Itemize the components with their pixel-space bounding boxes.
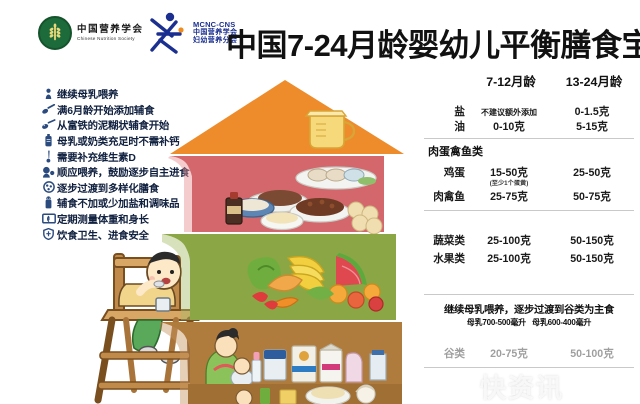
cns-logo-english: Chinese Nutrition Society bbox=[77, 37, 144, 42]
row-value-13-24: 0-1.5克 bbox=[550, 104, 634, 119]
divider bbox=[424, 367, 634, 368]
table-group-vegetables-fruits: 蔬菜类 25-100克 50-150克 水果类 25-100克 50-150克 bbox=[418, 233, 640, 266]
pyramid-tier-vegetable-fruit bbox=[162, 234, 396, 320]
breastfeeding-note: 继续母乳喂养，逐步过渡到谷类为主食 bbox=[418, 301, 640, 316]
row-value-7-12: 不建议额外添加 bbox=[468, 107, 550, 118]
tip-label: 满6月龄开始添加辅食 bbox=[57, 102, 154, 117]
table-column-headers: 7-12月龄 13-24月龄 bbox=[418, 72, 640, 90]
cns-logo-chinese: 中国营养学会 bbox=[77, 25, 144, 35]
table-group-meat-egg-poultry-fish: 肉蛋禽鱼类 鸡蛋 15-50克 25-50克 (至少1个蛋黄) 肉禽鱼 25-7… bbox=[418, 143, 640, 204]
row-value-13-24: 50-75克 bbox=[550, 189, 634, 204]
table-group-condiments: 盐 不建议额外添加 0-1.5克 油 0-10克 5-15克 bbox=[418, 104, 640, 134]
mcnc-figure-icon bbox=[146, 10, 190, 56]
responsive-feeding-icon bbox=[40, 165, 57, 179]
chinese-nutrition-society-logo: 中国营养学会 Chinese Nutrition Society bbox=[38, 16, 144, 50]
row-label: 鸡蛋 bbox=[418, 165, 468, 180]
divider bbox=[424, 210, 634, 211]
spoon-icon bbox=[40, 102, 57, 116]
wheat-emblem-icon bbox=[44, 22, 66, 44]
table-row: 蔬菜类 25-100克 50-150克 bbox=[418, 233, 640, 248]
egg-yolk-note: (至少1个蛋黄) bbox=[468, 178, 550, 187]
row-value-13-24: 50-100克 bbox=[550, 346, 634, 361]
spoon-puree-icon bbox=[40, 118, 57, 132]
row-label: 盐 bbox=[418, 104, 468, 119]
salt-shaker-icon bbox=[40, 196, 57, 210]
mcnc-cns-logo: MCNC-CNS 中国营养学会 妇幼营养分会 bbox=[146, 10, 237, 56]
header: 中国营养学会 Chinese Nutrition Society MCNC-CN… bbox=[0, 0, 640, 66]
group-title: 肉蛋禽鱼类 bbox=[418, 143, 640, 159]
pyramid-tier-oil bbox=[170, 80, 404, 154]
tip-label: 从富铁的泥糊状辅食开始 bbox=[57, 117, 169, 132]
row-label: 水果类 bbox=[418, 251, 468, 266]
milk-bottle-icon bbox=[40, 134, 57, 148]
row-label: 蔬菜类 bbox=[418, 233, 468, 248]
nutrition-table: 7-12月龄 13-24月龄 盐 不建议额外添加 0-1.5克 油 0-10克 … bbox=[418, 72, 640, 404]
row-label: 谷类 bbox=[418, 346, 468, 361]
row-label: 肉禽鱼 bbox=[418, 189, 468, 204]
milk-volume-7-12: 母乳700-500毫升 bbox=[467, 318, 526, 327]
tip-label: 逐步过渡到多样化膳食 bbox=[57, 180, 159, 195]
page-title: 中国7-24月龄婴幼儿平衡膳食宝塔 bbox=[226, 20, 640, 65]
row-value-13-24: 5-15克 bbox=[550, 119, 634, 134]
milk-volume-note: 母乳700-500毫升 母乳600-400毫升 bbox=[418, 317, 640, 328]
mcnc-head-dot bbox=[166, 13, 174, 21]
page-root: 中国营养学会 Chinese Nutrition Society MCNC-CN… bbox=[0, 0, 640, 404]
dropper-icon bbox=[40, 149, 57, 163]
column-header-7-12: 7-12月龄 bbox=[470, 72, 552, 90]
row-value-13-24: 50-150克 bbox=[550, 233, 634, 248]
table-row: 肉禽鱼 25-75克 50-75克 bbox=[418, 189, 640, 204]
table-row: 油 0-10克 5-15克 bbox=[418, 119, 640, 134]
tip-label: 定期测量体重和身长 bbox=[57, 211, 149, 226]
row-value-7-12: 25-75克 bbox=[468, 189, 550, 204]
row-value-13-24: 25-50克 bbox=[550, 165, 634, 180]
table-row: 盐 不建议额外添加 0-1.5克 bbox=[418, 104, 640, 119]
pyramid-tier-meat-egg-fish bbox=[168, 156, 384, 234]
variety-food-icon bbox=[40, 180, 57, 194]
cns-logo-text: 中国营养学会 Chinese Nutrition Society bbox=[77, 25, 144, 42]
table-group-milk-cereal: 继续母乳喂养，逐步过渡到谷类为主食 母乳700-500毫升 母乳600-400毫… bbox=[418, 301, 640, 368]
row-value-7-12: 20-75克 bbox=[468, 346, 550, 361]
scale-icon bbox=[40, 212, 57, 226]
row-label: 油 bbox=[418, 119, 468, 134]
cns-seal-icon bbox=[38, 16, 72, 50]
mcnc-accent-dot bbox=[178, 27, 183, 32]
row-value-13-24: 50-150克 bbox=[550, 251, 634, 266]
breastfeeding-icon bbox=[40, 87, 57, 101]
pyramid-tier-milk-cereal bbox=[160, 322, 402, 404]
column-header-13-24: 13-24月龄 bbox=[552, 72, 636, 90]
divider bbox=[424, 138, 634, 139]
table-row: 谷类 20-75克 50-100克 bbox=[418, 346, 640, 361]
divider bbox=[424, 294, 634, 295]
row-note: (至少1个蛋黄) bbox=[418, 180, 640, 187]
tip-label: 需要补充维生素D bbox=[57, 149, 136, 164]
milk-volume-13-24: 母乳600-400毫升 bbox=[532, 318, 591, 327]
food-pyramid bbox=[160, 78, 410, 404]
tip-label: 继续母乳喂养 bbox=[57, 86, 118, 101]
row-value-7-12: 25-100克 bbox=[468, 251, 550, 266]
row-value-7-12: 0-10克 bbox=[468, 119, 550, 134]
row-value-7-12: 25-100克 bbox=[468, 233, 550, 248]
table-row: 水果类 25-100克 50-150克 bbox=[418, 251, 640, 266]
